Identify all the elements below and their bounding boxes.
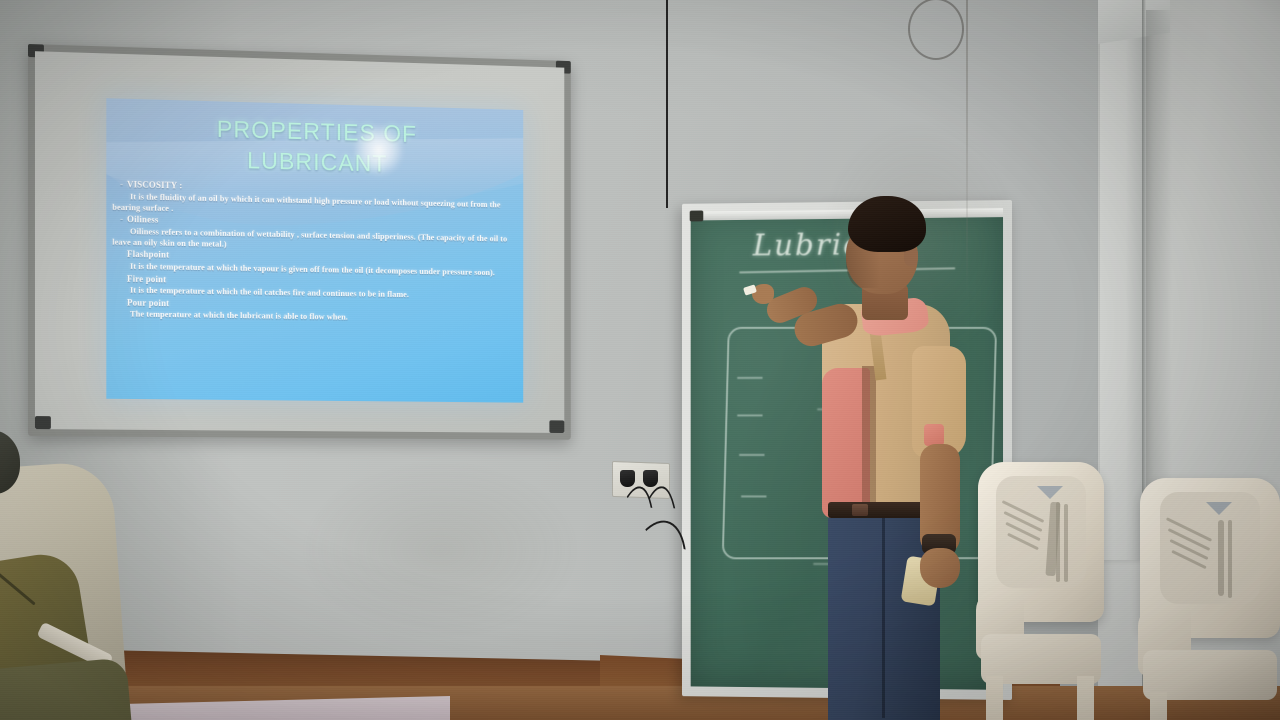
slide-body: -VISCOSITY : It is the fluidity of an oi… bbox=[112, 179, 516, 325]
chair-leg bbox=[1077, 676, 1094, 720]
blackboard-corner-cap bbox=[690, 210, 704, 221]
chair-leg bbox=[1150, 692, 1167, 720]
whiteboard-corner-cap bbox=[35, 416, 51, 429]
chair-triangle-detail bbox=[1206, 502, 1232, 515]
whiteboard-surface: PROPERTIES OF LUBRICANT -VISCOSITY : It … bbox=[35, 51, 564, 433]
presenter-hand bbox=[920, 548, 960, 588]
classroom-scene: PROPERTIES OF LUBRICANT -VISCOSITY : It … bbox=[0, 0, 1280, 720]
presenter bbox=[800, 196, 970, 720]
power-plug-icon[interactable] bbox=[643, 470, 658, 487]
chair-rib bbox=[1056, 502, 1060, 582]
wire-loop-icon bbox=[908, 0, 964, 60]
bullet-dash-icon: - bbox=[120, 180, 127, 191]
seated-audience-member bbox=[0, 430, 190, 720]
chair-backrest-pattern bbox=[996, 476, 1087, 588]
slide-title: PROPERTIES OF LUBRICANT bbox=[122, 113, 508, 183]
power-plug-icon[interactable] bbox=[620, 470, 635, 487]
wall-pillar bbox=[1100, 0, 1146, 560]
presenter-jeans-seam bbox=[882, 518, 885, 718]
chair-backrest-pattern bbox=[1160, 492, 1261, 604]
presenter-sleeve-badge bbox=[924, 424, 944, 446]
plastic-chair-left[interactable] bbox=[978, 462, 1104, 720]
seated-person-lower-body bbox=[0, 657, 133, 720]
projected-slide: PROPERTIES OF LUBRICANT -VISCOSITY : It … bbox=[106, 98, 523, 402]
whiteboard[interactable]: PROPERTIES OF LUBRICANT -VISCOSITY : It … bbox=[28, 44, 571, 440]
projector-cable bbox=[666, 0, 668, 208]
chair-triangle-detail bbox=[1037, 486, 1063, 499]
projector-hotspot-glare bbox=[353, 123, 404, 177]
chair-rib bbox=[1218, 520, 1224, 596]
whiteboard-corner-cap bbox=[549, 420, 564, 433]
plastic-chair-right[interactable] bbox=[1140, 478, 1280, 720]
chalk-tick bbox=[741, 495, 766, 497]
chair-rib bbox=[1228, 520, 1232, 598]
chalk-tick bbox=[737, 414, 762, 416]
presenter-hair bbox=[848, 196, 926, 252]
chalk-tick bbox=[739, 454, 764, 456]
presenter-belt-buckle bbox=[852, 504, 868, 516]
chair-leg bbox=[986, 676, 1003, 720]
bullet-dash-icon: - bbox=[120, 214, 127, 225]
wall-smudge bbox=[300, 460, 580, 640]
chalk-tick bbox=[737, 377, 762, 379]
chair-rib bbox=[1064, 504, 1068, 582]
presenter-shirt-shadow bbox=[862, 366, 876, 516]
